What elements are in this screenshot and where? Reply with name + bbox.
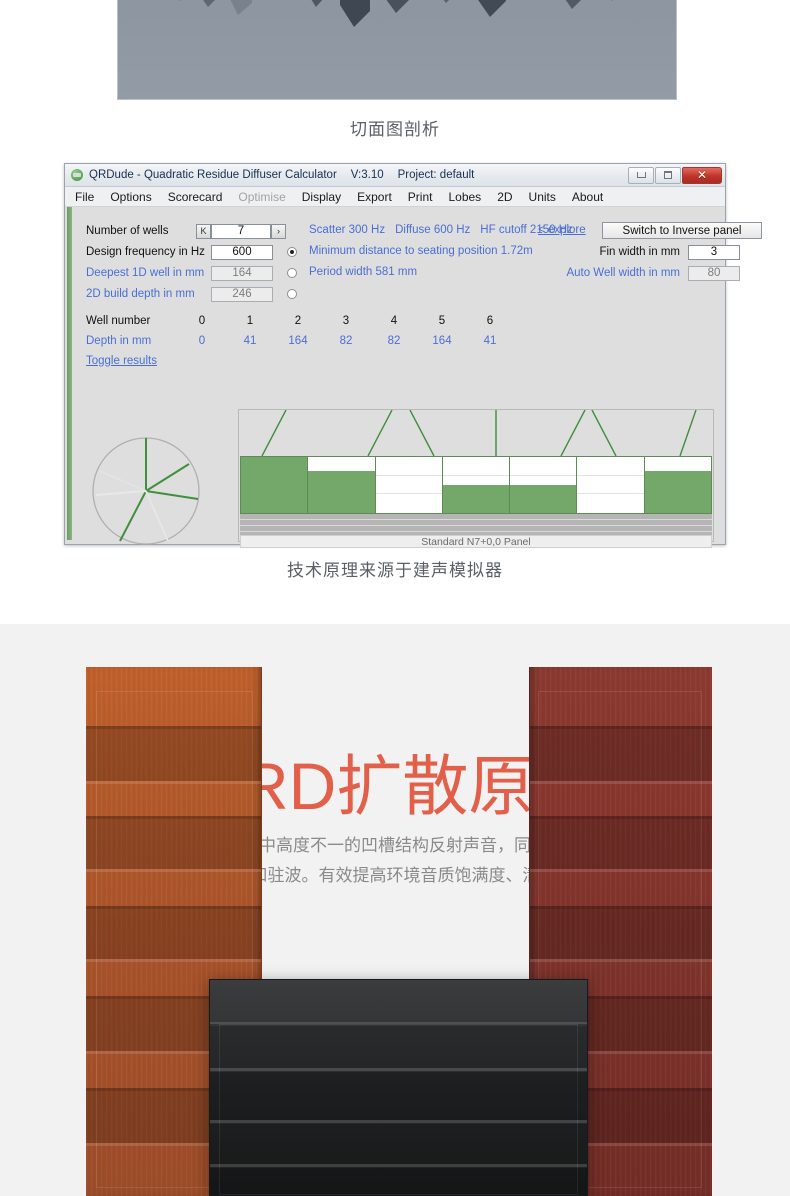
info-period-width: Period width 581 mm: [309, 266, 417, 278]
label-deepest-1d-well: Deepest 1D well in mm: [86, 267, 211, 279]
maximize-icon: [664, 171, 672, 179]
wells-row: [240, 456, 712, 514]
product-detail-page: 切面图剖析 QRDude - Quadratic Residue Diffuse…: [0, 0, 790, 1196]
menu-item-optimise: Optimise: [238, 190, 285, 204]
explore-link[interactable]: < explore: [538, 224, 586, 236]
well-number-4: 4: [370, 315, 418, 327]
minimize-icon: [637, 172, 646, 178]
depth-0: 0: [178, 335, 226, 347]
scatter-rays: [240, 410, 712, 456]
wells-increment-button[interactable]: ›: [271, 224, 286, 239]
menu-item-2d[interactable]: 2D: [497, 190, 512, 204]
table-row-well-number: Well number 0 1 2 3 4 5 6: [86, 311, 556, 331]
minimize-button[interactable]: [628, 167, 654, 184]
app-logo-icon: [70, 168, 84, 182]
well-number-0: 0: [178, 315, 226, 327]
menu-item-display[interactable]: Display: [302, 190, 341, 204]
qrd-diffuser-cutaway-render: [117, 0, 677, 100]
build-depth-2d-input[interactable]: 246: [211, 287, 273, 302]
app-version: V:3.10: [351, 169, 384, 181]
app-name: QRDude - Quadratic Residue Diffuser Calc…: [89, 169, 337, 181]
info-scatter: Scatter 300 Hz: [309, 224, 385, 236]
info-min-distance: Minimum distance to seating position 1.7…: [309, 245, 533, 257]
panel-caption: Standard N7+0,0 Panel: [240, 535, 712, 548]
well-number-5: 5: [418, 315, 466, 327]
app-section-caption: 技术原理来源于建声模拟器: [0, 556, 790, 581]
menu-bar: File Options Scorecard Optimise Display …: [65, 187, 725, 207]
depth-3: 82: [322, 335, 370, 347]
well-number-2: 2: [274, 315, 322, 327]
menu-item-units[interactable]: Units: [529, 190, 556, 204]
field-row-fin-width: Fin width in mm 3: [572, 243, 740, 261]
well-cell-2: [376, 457, 443, 513]
fin-width-input[interactable]: 3: [688, 245, 740, 260]
qrdude-app-window: QRDude - Quadratic Residue Diffuser Calc…: [64, 163, 726, 545]
shelf-unit-black-center: [209, 979, 588, 1196]
menu-item-file[interactable]: File: [75, 190, 94, 204]
auto-well-width-input[interactable]: 80: [688, 266, 740, 281]
switch-to-inverse-panel-button[interactable]: Switch to Inverse panel: [602, 222, 762, 239]
close-button[interactable]: ✕: [682, 167, 722, 184]
field-row-design-frequency: Design frequency in Hz 600: [86, 243, 297, 261]
depth-6: 41: [466, 335, 514, 347]
wells-decrement-button[interactable]: K: [196, 224, 211, 239]
standard-panel: Number of wells K 7 › Design frequency i…: [72, 207, 723, 540]
label-2d-build-depth: 2D build depth in mm: [86, 288, 211, 300]
label-design-frequency: Design frequency in Hz: [86, 246, 211, 258]
well-cell-5: [577, 457, 644, 513]
table-row-depth: Depth in mm 0 41 164 82 82 164 41: [86, 331, 556, 351]
well-cell-1: [308, 457, 375, 513]
radio-deepest-1d-well[interactable]: [287, 268, 297, 278]
menu-item-print[interactable]: Print: [408, 190, 433, 204]
cutaway-caption: 切面图剖析: [0, 115, 790, 140]
well-number-6: 6: [466, 315, 514, 327]
info-diffuse: Diffuse 600 Hz: [395, 224, 470, 236]
field-row-number-of-wells: Number of wells K 7 ›: [86, 222, 286, 240]
polar-lobe-diagram: [84, 429, 208, 553]
well-cell-0: [241, 457, 308, 513]
well-cell-6: [645, 457, 711, 513]
label-fin-width: Fin width in mm: [572, 246, 688, 258]
well-cell-3: [443, 457, 510, 513]
menu-item-scorecard[interactable]: Scorecard: [168, 190, 223, 204]
project-name: Project: default: [398, 169, 475, 181]
window-title-text: QRDude - Quadratic Residue Diffuser Calc…: [89, 169, 627, 181]
window-title-bar: QRDude - Quadratic Residue Diffuser Calc…: [65, 164, 725, 187]
maximize-button[interactable]: [655, 167, 681, 184]
depth-2: 164: [274, 335, 322, 347]
menu-item-lobes[interactable]: Lobes: [448, 190, 481, 204]
design-frequency-input[interactable]: 600: [211, 245, 273, 260]
well-number-3: 3: [322, 315, 370, 327]
deepest-1d-well-input[interactable]: 164: [211, 266, 273, 281]
well-cell-4: [510, 457, 577, 513]
window-controls: ✕: [627, 167, 722, 184]
menu-item-export[interactable]: Export: [357, 190, 392, 204]
well-number-1: 1: [226, 315, 274, 327]
panel-backing-slab: [240, 514, 712, 535]
label-auto-well-width: Auto Well width in mm: [552, 267, 688, 279]
menu-item-about[interactable]: About: [572, 190, 603, 204]
app-client-area: Number of wells K 7 › Design frequency i…: [65, 207, 725, 544]
toggle-results-link[interactable]: Toggle results: [86, 355, 157, 367]
label-number-of-wells: Number of wells: [86, 225, 196, 237]
radio-design-frequency[interactable]: [287, 247, 297, 257]
results-table: Well number 0 1 2 3 4 5 6 Depth in mm 0 …: [86, 311, 556, 369]
radio-2d-build-depth[interactable]: [287, 289, 297, 299]
field-row-auto-well-width: Auto Well width in mm 80: [552, 264, 740, 282]
label-depth: Depth in mm: [86, 335, 178, 347]
cutaway-section: 切面图剖析: [0, 0, 790, 113]
depth-5: 164: [418, 335, 466, 347]
label-well-number: Well number: [86, 315, 178, 327]
depth-4: 82: [370, 335, 418, 347]
wells-count-input[interactable]: 7: [211, 224, 271, 239]
diffuser-panel-view: Standard N7+0,0 Panel: [238, 409, 714, 542]
menu-item-options[interactable]: Options: [110, 190, 151, 204]
field-row-deepest-1d-well: Deepest 1D well in mm 164: [86, 264, 297, 282]
field-row-2d-build-depth: 2D build depth in mm 246: [86, 285, 297, 303]
depth-1: 41: [226, 335, 274, 347]
